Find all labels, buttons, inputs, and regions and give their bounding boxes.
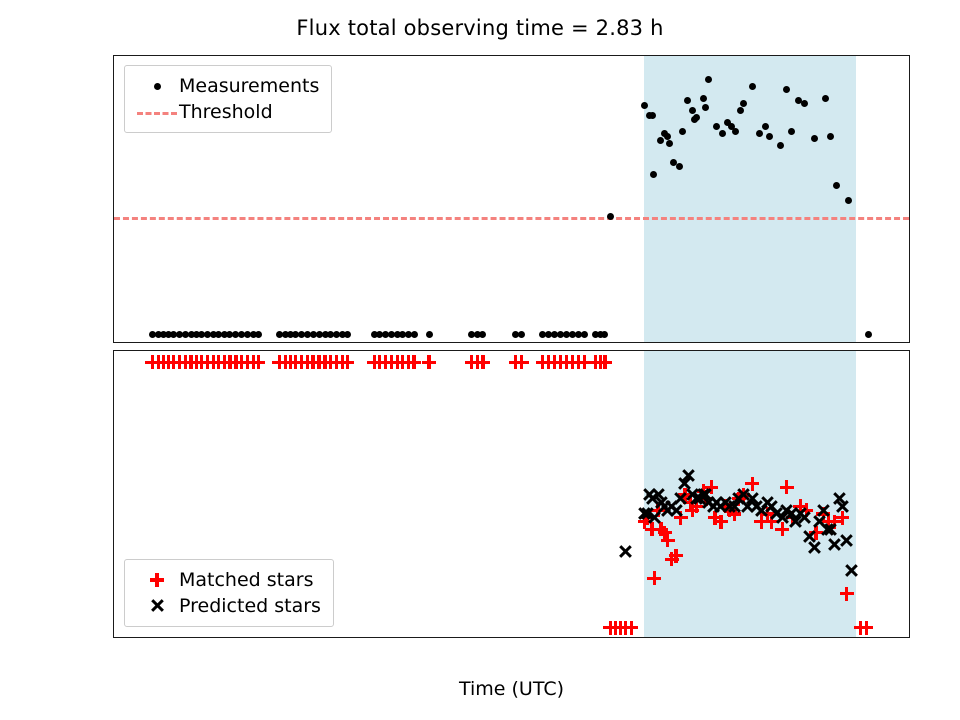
legend-label-matched-stars: Matched stars bbox=[179, 569, 313, 591]
x-tick bbox=[895, 342, 896, 343]
x-tick bbox=[296, 637, 297, 638]
y-tick bbox=[113, 276, 114, 277]
data-point bbox=[740, 100, 747, 107]
y-tick bbox=[113, 476, 114, 477]
legend-item-measurements: Measurements bbox=[135, 73, 319, 99]
cross-marker-icon bbox=[135, 595, 179, 617]
data-point bbox=[650, 171, 657, 178]
data-point bbox=[676, 163, 683, 170]
data-point bbox=[865, 331, 872, 338]
data-point bbox=[783, 86, 790, 93]
x-tick bbox=[371, 637, 372, 638]
data-point bbox=[732, 128, 739, 135]
dashed-line-icon bbox=[135, 101, 179, 123]
x-tick bbox=[895, 637, 896, 638]
data-point bbox=[518, 331, 525, 338]
legend-label-predicted-stars: Predicted stars bbox=[179, 595, 321, 617]
data-point bbox=[788, 128, 795, 135]
data-point bbox=[255, 331, 262, 338]
legend-item-threshold: Threshold bbox=[135, 99, 319, 125]
legend-item-predicted-stars: Predicted stars bbox=[135, 593, 321, 619]
x-tick bbox=[820, 342, 821, 343]
x-tick bbox=[146, 637, 147, 638]
data-point bbox=[827, 133, 834, 140]
x-axis-label: Time (UTC) bbox=[113, 678, 910, 700]
legend-item-matched-stars: Matched stars bbox=[135, 567, 321, 593]
x-tick bbox=[820, 637, 821, 638]
data-point bbox=[833, 182, 840, 189]
data-point bbox=[811, 135, 818, 142]
legend-label-threshold: Threshold bbox=[179, 101, 273, 123]
x-tick bbox=[670, 342, 671, 343]
y-tick bbox=[113, 158, 114, 159]
x-tick bbox=[520, 637, 521, 638]
x-tick bbox=[745, 342, 746, 343]
x-tick bbox=[595, 342, 596, 343]
y-tick bbox=[113, 552, 114, 553]
data-point bbox=[801, 100, 808, 107]
data-point bbox=[344, 331, 351, 338]
bottom-legend: Matched stars Predicted stars bbox=[124, 559, 334, 627]
figure-canvas: Flux total observing time = 2.83 h 0.000… bbox=[0, 0, 960, 720]
data-point bbox=[426, 331, 433, 338]
data-point bbox=[766, 133, 773, 140]
y-tick bbox=[113, 217, 114, 218]
dot-marker-icon bbox=[135, 75, 179, 97]
x-tick bbox=[670, 637, 671, 638]
page-title: Flux total observing time = 2.83 h bbox=[0, 16, 960, 40]
x-tick bbox=[221, 342, 222, 343]
x-tick bbox=[745, 637, 746, 638]
data-point bbox=[581, 331, 588, 338]
data-point bbox=[845, 197, 852, 204]
x-tick bbox=[371, 342, 372, 343]
data-point bbox=[666, 140, 673, 147]
x-tick bbox=[595, 637, 596, 638]
x-tick bbox=[146, 342, 147, 343]
x-tick bbox=[446, 342, 447, 343]
data-point bbox=[664, 133, 671, 140]
plus-marker-icon bbox=[135, 569, 179, 591]
data-point bbox=[601, 331, 608, 338]
data-point bbox=[607, 213, 614, 220]
data-point bbox=[689, 107, 696, 114]
y-tick bbox=[113, 335, 114, 336]
count-panel: 20406080 09:0010:0011:0012:0013:0014:001… bbox=[113, 350, 910, 638]
ratio-panel: 0.000.250.500.751.00 Matched/Predicted s… bbox=[113, 55, 910, 343]
threshold-line bbox=[114, 217, 909, 220]
data-point bbox=[737, 107, 744, 114]
y-tick bbox=[113, 98, 114, 99]
data-point bbox=[649, 112, 656, 119]
y-tick bbox=[113, 628, 114, 629]
x-tick bbox=[296, 342, 297, 343]
x-tick bbox=[446, 637, 447, 638]
y-tick bbox=[113, 400, 114, 401]
x-tick bbox=[221, 637, 222, 638]
data-point bbox=[749, 83, 756, 90]
top-legend: Measurements Threshold bbox=[124, 65, 332, 133]
data-point bbox=[411, 331, 418, 338]
legend-label-measurements: Measurements bbox=[179, 75, 319, 97]
x-tick bbox=[520, 342, 521, 343]
data-point bbox=[479, 331, 486, 338]
